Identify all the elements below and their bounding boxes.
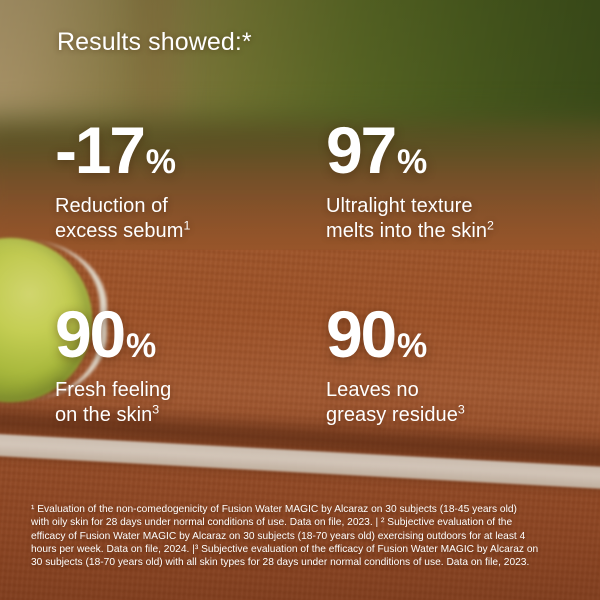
stat-caption: Reduction of excess sebum1	[55, 194, 190, 245]
stat-figure: 97 %	[326, 118, 494, 183]
stat-reference-marker: 2	[487, 219, 494, 233]
footnotes: ¹ Evaluation of the non-comedogenicity o…	[31, 503, 579, 570]
stat-figure: -17 %	[55, 118, 190, 183]
stat-caption-line1: Reduction of	[55, 195, 168, 217]
stat-caption: Leaves no greasy residue3	[326, 378, 465, 429]
footnote-line-3: efficacy of Fusion Water MAGIC by Alcara…	[31, 530, 579, 543]
stat-caption-line1: Leaves no	[326, 379, 419, 401]
content-layer: Results showed:* -17 % Reduction of exce…	[0, 0, 600, 600]
stat-caption-line2: on the skin	[55, 404, 152, 426]
stat-block-fresh-feeling: 90 % Fresh feeling on the skin3	[55, 302, 171, 429]
stat-number: 90	[326, 302, 395, 367]
stat-caption-line1: Ultralight texture	[326, 195, 473, 217]
footnote-line-1: ¹ Evaluation of the non-comedogenicity o…	[31, 503, 579, 516]
stat-caption: Ultralight texture melts into the skin2	[326, 194, 494, 245]
stat-caption-line2: excess sebum	[55, 220, 183, 242]
percent-symbol: %	[397, 330, 426, 363]
stat-caption-line2: melts into the skin	[326, 220, 487, 242]
stat-reference-marker: 3	[458, 403, 465, 417]
stat-caption-line2: greasy residue	[326, 404, 458, 426]
stat-number: 90	[55, 302, 124, 367]
stat-caption-line1: Fresh feeling	[55, 379, 171, 401]
footnote-line-2: with oily skin for 28 days under normal …	[31, 516, 579, 529]
percent-symbol: %	[397, 146, 426, 179]
stat-figure: 90 %	[326, 302, 465, 367]
stat-block-sebum-reduction: -17 % Reduction of excess sebum1	[55, 118, 190, 245]
footnote-line-4: hours per week. Data on file, 2024. |³ S…	[31, 543, 579, 556]
stat-reference-marker: 1	[183, 219, 190, 233]
stat-reference-marker: 3	[152, 403, 159, 417]
stat-figure: 90 %	[55, 302, 171, 367]
infographic-card: Results showed:* -17 % Reduction of exce…	[0, 0, 600, 600]
percent-symbol: %	[126, 330, 155, 363]
stat-number: 97	[326, 118, 395, 183]
percent-symbol: %	[146, 146, 175, 179]
footnote-line-5: 30 subjects (18-70 years old) with all s…	[31, 556, 579, 569]
stat-block-ultralight-texture: 97 % Ultralight texture melts into the s…	[326, 118, 494, 245]
stat-number: -17	[55, 118, 144, 183]
stat-block-no-greasy-residue: 90 % Leaves no greasy residue3	[326, 302, 465, 429]
stat-caption: Fresh feeling on the skin3	[55, 378, 171, 429]
